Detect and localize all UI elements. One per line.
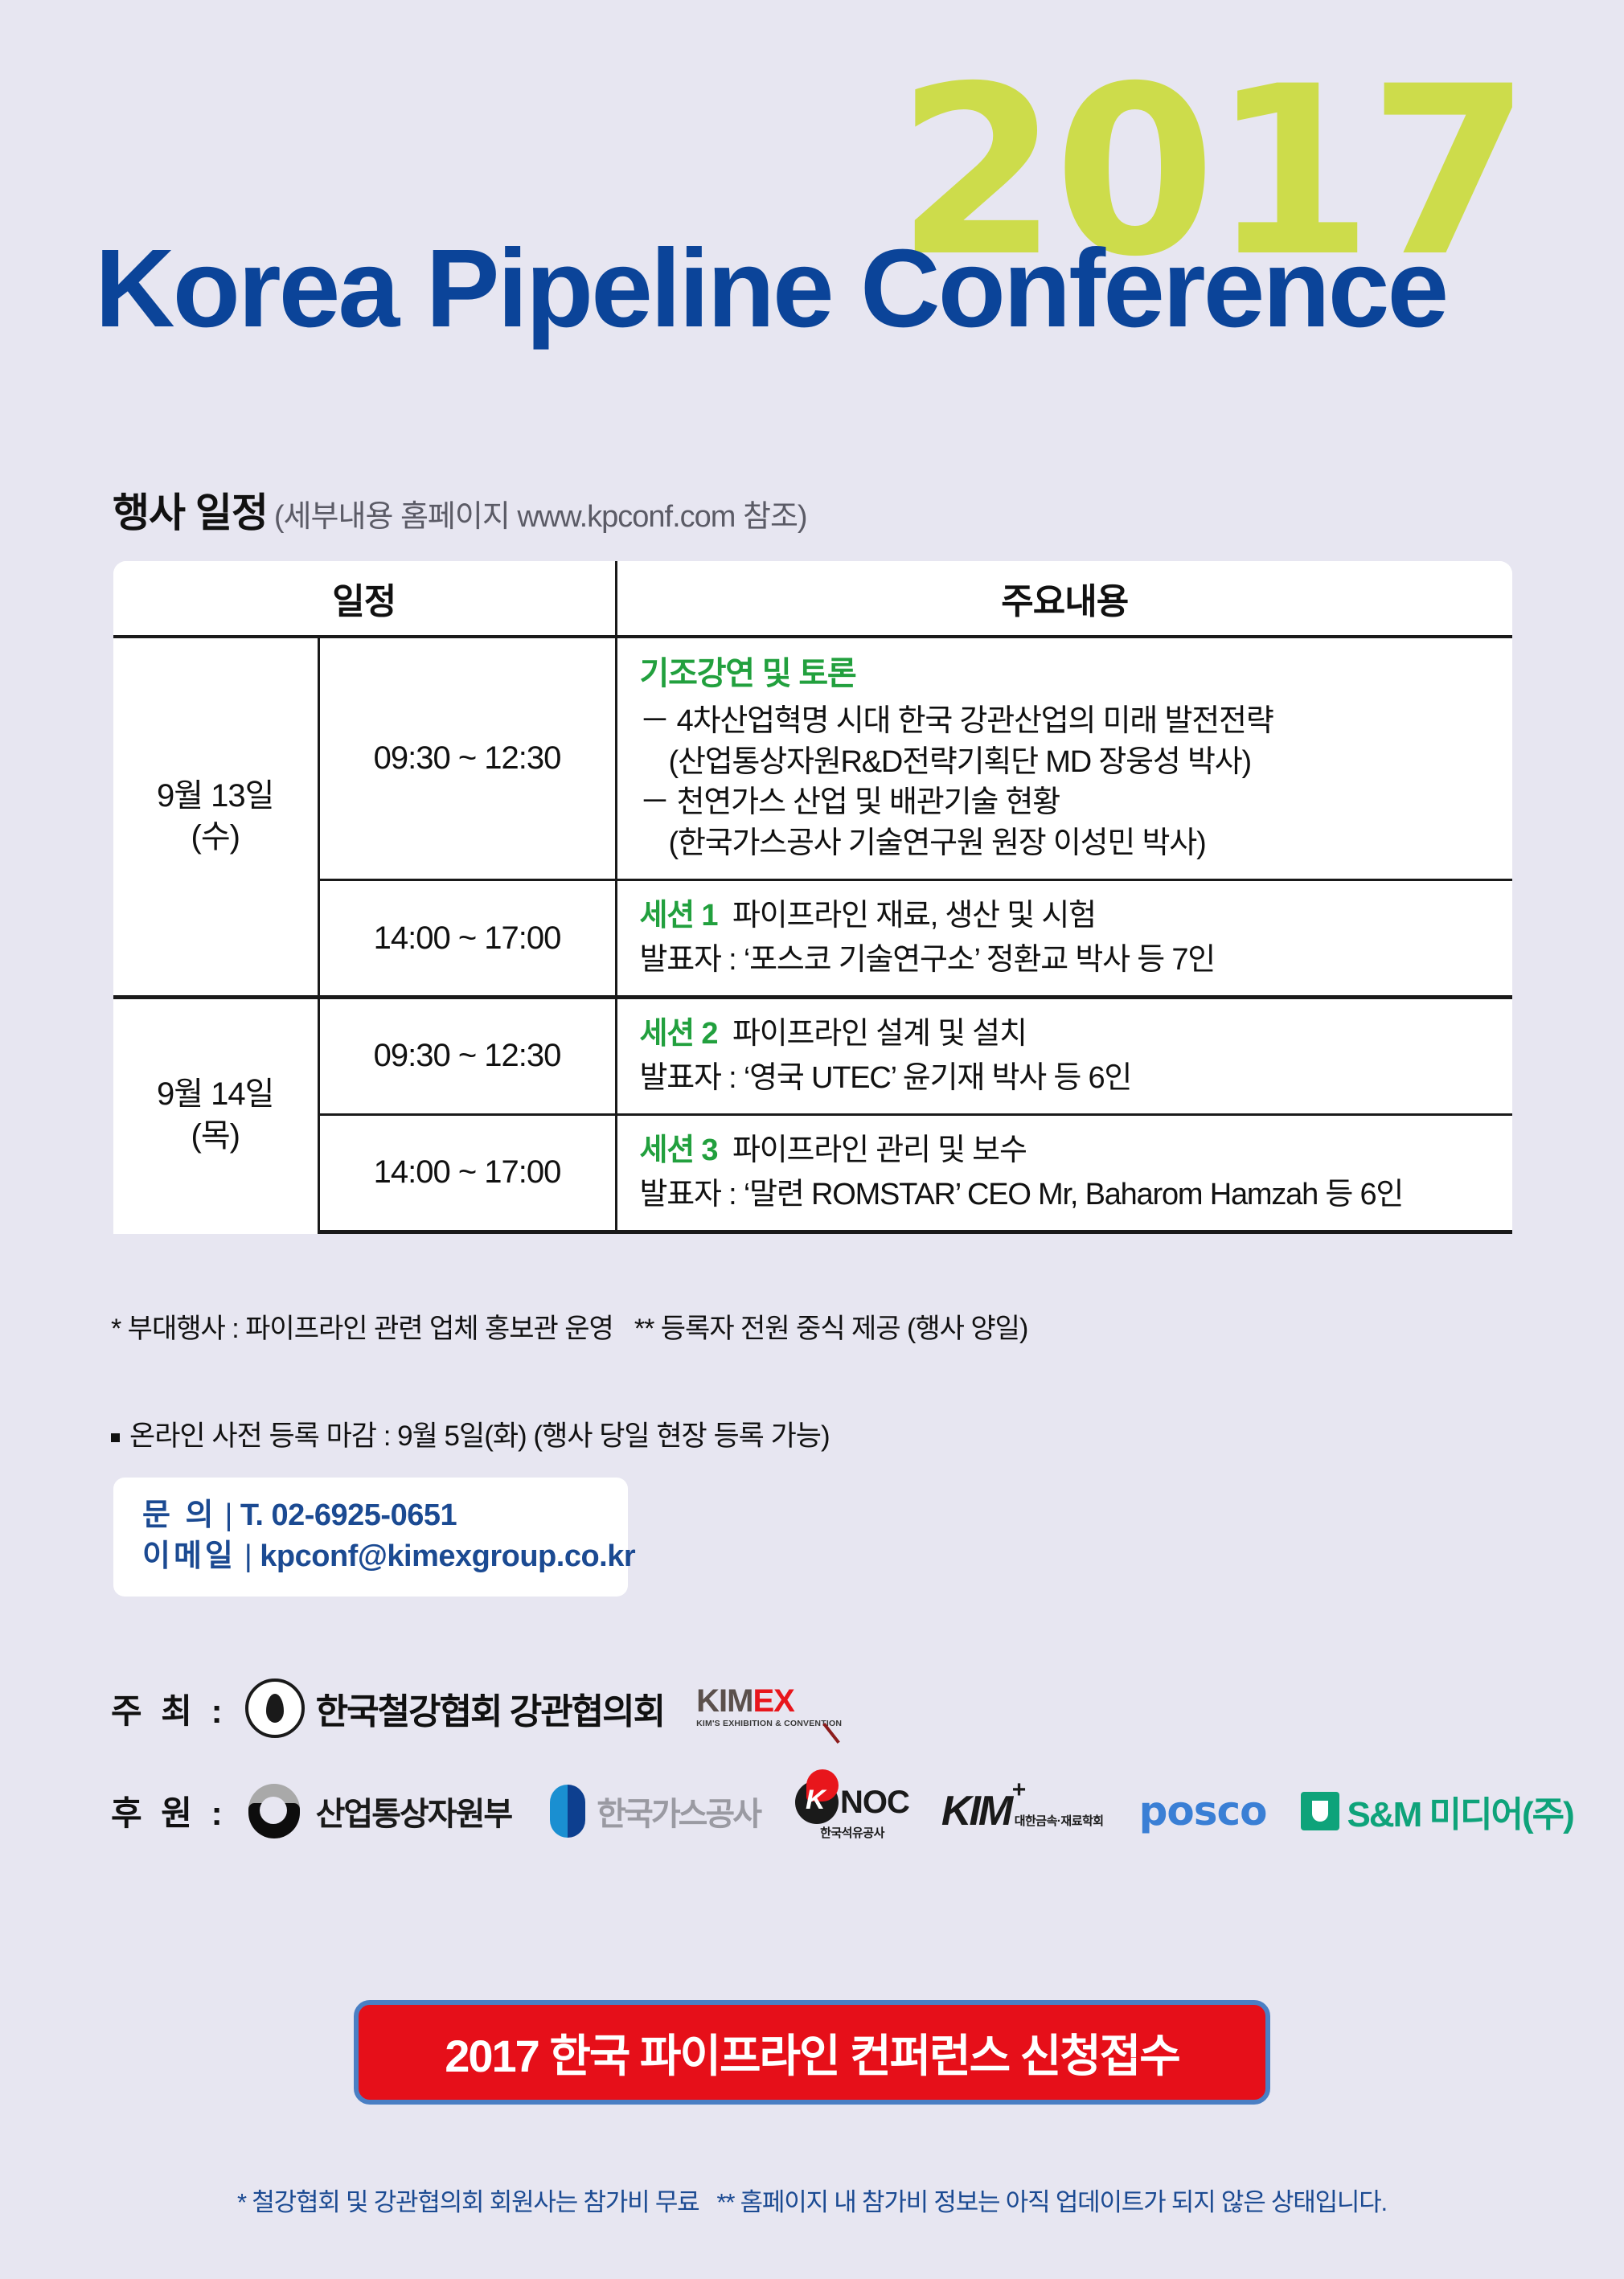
day-weekday-2: (목) xyxy=(191,1118,240,1154)
footnote-side-event: * 부대행사 : 파이프라인 관련 업체 홍보관 운영 xyxy=(111,1314,613,1344)
organizer-role-label: 주 최 : xyxy=(111,1684,228,1733)
bottom-footnote-left: * 철강협회 및 강관협의회 회원사는 참가비 무료 xyxy=(237,2188,699,2216)
organizer-kosa-name: 한국철강협회 강관협의회 xyxy=(316,1683,665,1734)
contact-phone-label: 문 의 xyxy=(142,1498,216,1532)
registration-deadline-text: 온라인 사전 등록 마감 : 9월 5일(화) (행사 당일 현장 등록 가능) xyxy=(129,1420,830,1452)
keynote-item-2-detail: (한국가스공사 기술연구원 원장 이성민 박사) xyxy=(640,823,1505,864)
session-2-label: 세션 2 xyxy=(640,1017,718,1051)
day-date-1: 9월 13일 xyxy=(157,778,273,814)
page-title: Korea Pipeline Conference xyxy=(95,233,1446,344)
title-block: 2017 Korea Pipeline Conference xyxy=(0,95,1624,392)
column-header-schedule: 일정 xyxy=(113,561,616,637)
schedule-heading: 행사 일정(세부내용 홈페이지 www.kpconf.com 참조) xyxy=(113,481,807,539)
column-header-content: 주요내용 xyxy=(616,561,1512,637)
time-cell-d1r1: 09:30 ~ 12:30 xyxy=(318,637,616,880)
table-row: 14:00 ~ 17:00 세션 3 파이프라인 관리 및 보수 발표자 : ‘… xyxy=(113,1114,1512,1232)
sponsor-role-label: 후 원 : xyxy=(111,1786,228,1835)
sponsor-row: 후 원 : 산업통상자원부 한국가스공사 K NOC 한국석유공사 KIM+ 대… xyxy=(111,1781,1573,1841)
contact-separator-1: | xyxy=(224,1498,232,1532)
session-1-line: 세션 1 파이프라인 재료, 생산 및 시험 xyxy=(640,896,1505,937)
schedule-heading-sub: (세부내용 홈페이지 www.kpconf.com 참조) xyxy=(274,500,807,534)
kosa-seal-icon xyxy=(245,1679,305,1738)
session-3-title: 파이프라인 관리 및 보수 xyxy=(732,1133,1027,1167)
content-cell-d2r1: 세션 2 파이프라인 설계 및 설치 발표자 : ‘영국 UTEC’ 윤기재 박… xyxy=(616,998,1512,1115)
snm-wordmark: S&M 미디어(주) xyxy=(1347,1785,1573,1837)
session-3-presenter: 발표자 : ‘말련 ROMSTAR’ CEO Mr, Baharom Hamza… xyxy=(640,1174,1505,1215)
keynote-item-1-bullet: － 4차산업혁명 시대 한국 강관산업의 미래 발전전략 xyxy=(640,701,1505,742)
footnote-lunch: ** 등록자 전원 중식 제공 (행사 양일) xyxy=(634,1314,1027,1344)
table-row: 9월 13일 (수) 09:30 ~ 12:30 기조강연 및 토론 － 4차산… xyxy=(113,637,1512,880)
kim-logo: KIM+ 대한금속·재료학회 xyxy=(941,1790,1104,1832)
kimex-tagline: KIM'S EXHIBITION & CONVENTION xyxy=(696,1719,842,1728)
content-cell-d2r2: 세션 3 파이프라인 관리 및 보수 발표자 : ‘말련 ROMSTAR’ CE… xyxy=(616,1114,1512,1232)
knoc-mark-icon: K xyxy=(795,1781,839,1824)
kim-wordmark: KIM+ xyxy=(941,1788,1011,1834)
content-cell-d1r2: 세션 1 파이프라인 재료, 생산 및 시험 발표자 : ‘포스코 기술연구소’… xyxy=(616,880,1512,998)
registration-button[interactable]: 2017 한국 파이프라인 컨퍼런스 신청접수 xyxy=(354,2000,1270,2105)
knoc-logo: K NOC 한국석유공사 xyxy=(795,1781,909,1841)
knoc-wordmark: NOC xyxy=(840,1785,909,1821)
session-2-line: 세션 2 파이프라인 설계 및 설치 xyxy=(640,1014,1505,1055)
snm-logo: S&M 미디어(주) xyxy=(1301,1785,1573,1837)
knoc-logo-row: K NOC xyxy=(795,1781,909,1824)
table-header-row: 일정 주요내용 xyxy=(113,561,1512,637)
contact-email-line: 이메일|kpconf@kimexgroup.co.kr xyxy=(142,1536,628,1577)
kimex-part-3: X xyxy=(773,1683,794,1719)
session-3-line: 세션 3 파이프라인 관리 및 보수 xyxy=(640,1130,1505,1171)
session-3-label: 세션 3 xyxy=(640,1133,718,1167)
day-cell-1: 9월 13일 (수) xyxy=(113,637,318,998)
schedule-heading-main: 행사 일정 xyxy=(113,490,268,535)
time-cell-d1r2: 14:00 ~ 17:00 xyxy=(318,880,616,998)
posco-logo: posco xyxy=(1139,1788,1267,1834)
session-2-title: 파이프라인 설계 및 설치 xyxy=(732,1017,1027,1051)
contact-box: 문 의|T. 02-6925-0651 이메일|kpconf@kimexgrou… xyxy=(113,1478,628,1597)
kimex-wordmark: KIMEX xyxy=(696,1683,794,1719)
contact-separator-2: | xyxy=(244,1539,252,1573)
footnote-row: * 부대행사 : 파이프라인 관련 업체 홍보관 운영** 등록자 전원 중식 … xyxy=(111,1306,1027,1346)
organizer-row: 주 최 : 한국철강협회 강관협의회 KIMEX KIM'S EXHIBITIO… xyxy=(111,1679,842,1738)
kimex-logo: KIMEX KIM'S EXHIBITION & CONVENTION xyxy=(696,1685,842,1732)
knoc-tagline: 한국석유공사 xyxy=(820,1826,884,1840)
session-1-presenter: 발표자 : ‘포스코 기술연구소’ 정환교 박사 등 7인 xyxy=(640,940,1505,981)
bottom-footnote-right: ** 홈페이지 내 참가비 정보는 아직 업데이트가 되지 않은 상태입니다. xyxy=(716,2188,1387,2216)
content-cell-d1r1: 기조강연 및 토론 － 4차산업혁명 시대 한국 강관산업의 미래 발전전략 (… xyxy=(616,637,1512,880)
session-1-title: 파이프라인 재료, 생산 및 시험 xyxy=(732,899,1096,933)
table-row: 9월 14일 (목) 09:30 ~ 12:30 세션 2 파이프라인 설계 및… xyxy=(113,998,1512,1115)
kimex-part-2: E xyxy=(753,1683,773,1719)
kim-tagline: 대한금속·재료학회 xyxy=(1015,1814,1104,1828)
sponsor-kogas-name: 한국가스공사 xyxy=(597,1788,760,1834)
schedule-table: 일정 주요내용 9월 13일 (수) 09:30 ~ 12:30 기조강연 및 … xyxy=(113,561,1512,1234)
contact-email-value[interactable]: kpconf@kimexgroup.co.kr xyxy=(260,1539,635,1573)
time-cell-d2r1: 09:30 ~ 12:30 xyxy=(318,998,616,1115)
day-date-2: 9월 14일 xyxy=(157,1076,273,1112)
keynote-heading: 기조강연 및 토론 xyxy=(640,653,1505,696)
kim-plus-icon: + xyxy=(1012,1778,1024,1802)
keynote-item-1-detail: (산업통상자원R&D전략기획단 MD 장웅성 박사) xyxy=(640,742,1505,783)
snm-mark-icon xyxy=(1301,1792,1339,1830)
registration-button-label: 2017 한국 파이프라인 컨퍼런스 신청접수 xyxy=(445,2020,1179,2085)
bottom-footnote: * 철강협회 및 강관협의회 회원사는 참가비 무료** 홈페이지 내 참가비 … xyxy=(237,2182,1387,2218)
table-row: 14:00 ~ 17:00 세션 1 파이프라인 재료, 생산 및 시험 발표자… xyxy=(113,880,1512,998)
day-cell-2: 9월 14일 (목) xyxy=(113,998,318,1232)
kim-text: KIM xyxy=(941,1788,1011,1834)
sponsor-motie-name: 산업통상자원부 xyxy=(316,1788,512,1834)
time-cell-d2r2: 14:00 ~ 17:00 xyxy=(318,1114,616,1232)
kimex-part-1: KIM xyxy=(696,1683,753,1719)
poster-root: 2017 Korea Pipeline Conference 행사 일정(세부내… xyxy=(0,0,1624,2279)
square-bullet-icon xyxy=(111,1433,120,1442)
session-1-label: 세션 1 xyxy=(640,899,718,933)
knoc-k-letter: K xyxy=(806,1786,826,1814)
contact-email-label: 이메일 xyxy=(142,1539,236,1573)
session-2-presenter: 발표자 : ‘영국 UTEC’ 윤기재 박사 등 6인 xyxy=(640,1058,1505,1099)
registration-deadline: 온라인 사전 등록 마감 : 9월 5일(화) (행사 당일 현장 등록 가능) xyxy=(111,1413,830,1454)
motie-taegeuk-icon xyxy=(245,1782,303,1840)
contact-phone-line: 문 의|T. 02-6925-0651 xyxy=(142,1495,628,1536)
kogas-flame-icon xyxy=(550,1785,585,1838)
keynote-item-2-bullet: － 천연가스 산업 및 배관기술 현황 xyxy=(640,782,1505,823)
contact-phone-value[interactable]: T. 02-6925-0651 xyxy=(240,1498,457,1532)
day-weekday-1: (수) xyxy=(191,819,240,855)
